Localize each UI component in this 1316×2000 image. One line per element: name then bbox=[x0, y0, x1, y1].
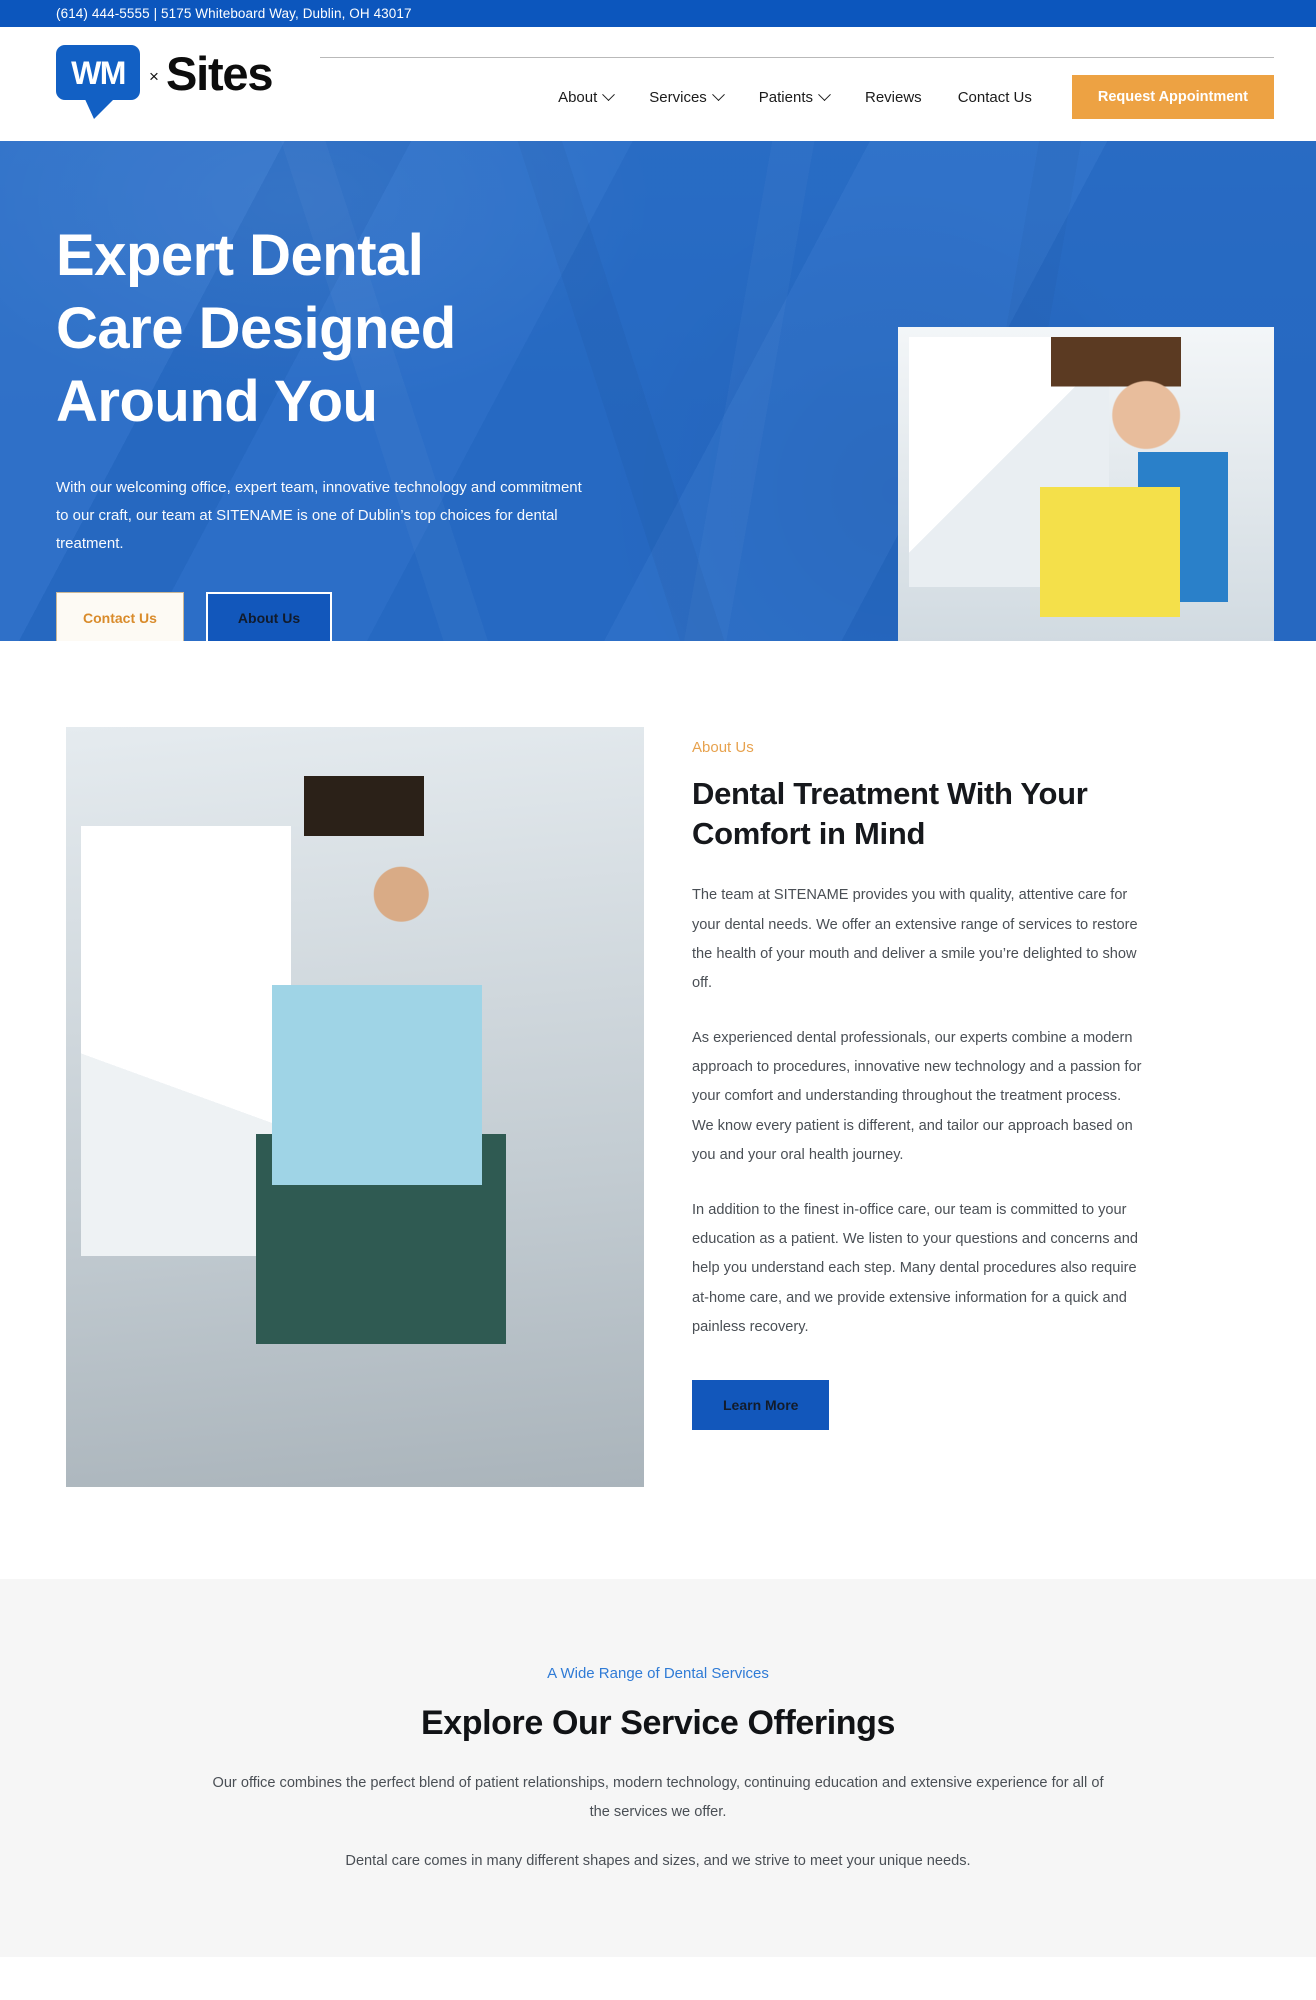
logo-bubble-text: WM bbox=[71, 57, 125, 89]
services-paragraph-1: Our office combines the perfect blend of… bbox=[208, 1769, 1108, 1827]
about-paragraph-1: The team at SITENAME provides you with q… bbox=[692, 881, 1142, 998]
nav-item-patients[interactable]: Patients bbox=[741, 81, 847, 114]
about-eyebrow: About Us bbox=[692, 739, 1142, 756]
services-heading: Explore Our Service Offerings bbox=[42, 1704, 1274, 1743]
services-section: A Wide Range of Dental Services Explore … bbox=[0, 1579, 1316, 1957]
about-paragraph-2: As experienced dental professionals, our… bbox=[692, 1024, 1142, 1170]
about-paragraph-3: In addition to the finest in-office care… bbox=[692, 1196, 1142, 1342]
about-heading: Dental Treatment With Your Comfort in Mi… bbox=[692, 774, 1142, 853]
services-eyebrow: A Wide Range of Dental Services bbox=[42, 1665, 1274, 1682]
hero-contact-us-button[interactable]: Contact Us bbox=[56, 592, 184, 641]
hero-section: Expert Dental Care Designed Around You W… bbox=[0, 141, 1316, 641]
chevron-down-icon bbox=[818, 88, 831, 101]
hero-text-column: Expert Dental Care Designed Around You W… bbox=[56, 141, 616, 641]
about-learn-more-button[interactable]: Learn More bbox=[692, 1380, 829, 1430]
site-logo[interactable]: WM × Sites bbox=[56, 45, 272, 100]
chevron-down-icon bbox=[712, 88, 725, 101]
hero-patient-photo bbox=[898, 327, 1274, 641]
about-text-column: About Us Dental Treatment With Your Comf… bbox=[692, 727, 1142, 1487]
main-navigation: About Services Patients Reviews Contact … bbox=[320, 75, 1274, 119]
request-appointment-button[interactable]: Request Appointment bbox=[1072, 75, 1274, 119]
hero-about-us-button[interactable]: About Us bbox=[206, 592, 332, 641]
site-header: WM × Sites About Services Patients Revie… bbox=[0, 27, 1316, 141]
contact-info-text: (614) 444-5555 | 5175 Whiteboard Way, Du… bbox=[56, 6, 412, 21]
hero-title: Expert Dental Care Designed Around You bbox=[56, 219, 526, 438]
nav-label-reviews: Reviews bbox=[865, 89, 922, 106]
about-photo-content bbox=[66, 727, 644, 1487]
about-section: About Us Dental Treatment With Your Comf… bbox=[0, 641, 1316, 1579]
nav-item-about[interactable]: About bbox=[540, 81, 631, 114]
hero-button-group: Contact Us About Us bbox=[56, 592, 616, 641]
nav-label-contact-us: Contact Us bbox=[958, 89, 1032, 106]
about-clinic-photo bbox=[66, 727, 644, 1487]
header-nav-column: About Services Patients Reviews Contact … bbox=[320, 27, 1274, 119]
nav-item-reviews[interactable]: Reviews bbox=[847, 81, 940, 114]
nav-item-services[interactable]: Services bbox=[631, 81, 741, 114]
nav-label-services: Services bbox=[649, 89, 707, 106]
logo-separator-icon: × bbox=[149, 59, 159, 87]
logo-wordmark: Sites bbox=[166, 48, 272, 97]
speech-bubble-icon: WM bbox=[56, 45, 140, 100]
top-contact-bar: (614) 444-5555 | 5175 Whiteboard Way, Du… bbox=[0, 0, 1316, 27]
header-divider bbox=[320, 57, 1274, 58]
hero-subtitle: With our welcoming office, expert team, … bbox=[56, 474, 586, 557]
nav-item-contact-us[interactable]: Contact Us bbox=[940, 81, 1050, 114]
nav-label-patients: Patients bbox=[759, 89, 813, 106]
services-paragraph-2: Dental care comes in many different shap… bbox=[208, 1847, 1108, 1876]
chevron-down-icon bbox=[602, 88, 615, 101]
hero-photo-content bbox=[898, 327, 1274, 641]
nav-label-about: About bbox=[558, 89, 597, 106]
